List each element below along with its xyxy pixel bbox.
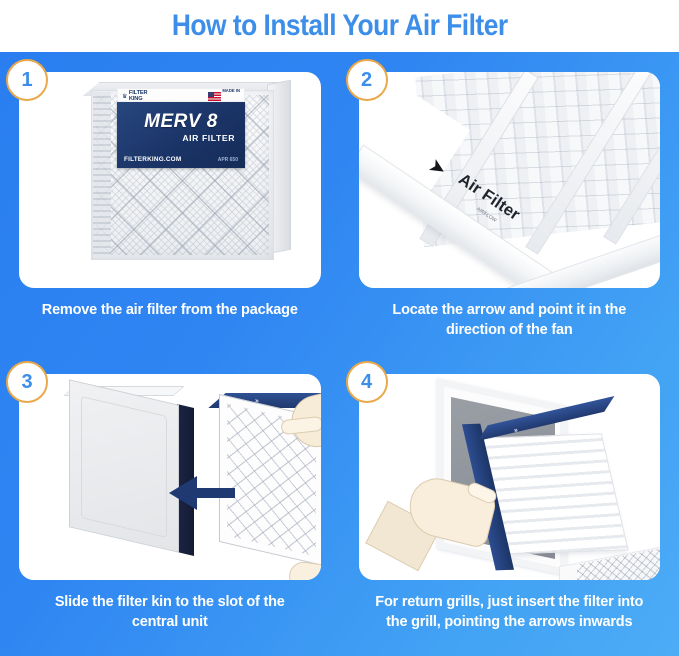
step-1-image-card: ♛ FILTER KING MADE IN USA — [19, 72, 321, 288]
page-title: How to Install Your Air Filter — [172, 9, 508, 43]
apr-rating-text: APR 650 — [218, 157, 238, 163]
step-caption-4: For return grills, just insert the filte… — [340, 580, 679, 632]
filter-pleat-ribs — [93, 92, 111, 258]
step-card-3: » 3 Slide the filter kin to the slot of … — [0, 354, 340, 656]
step-card-4: » 4 For return grills, just insert the f… — [340, 354, 679, 656]
website-text: FILTERKING.COM — [124, 156, 181, 163]
steps-board: ♛ FILTER KING MADE IN USA — [0, 52, 679, 656]
filter-frame-arrow-marks: » — [513, 426, 520, 434]
hand-bottom — [287, 560, 320, 580]
filter-corner-closeup-illustration: ➤ Air Filter AIRFLOW — [359, 72, 661, 288]
filter-frame-arrow-marks: » — [255, 397, 261, 405]
step-number-badge-2: 2 — [346, 59, 388, 101]
step-3-image-card: » — [19, 374, 321, 580]
filter-label-footer: FILTERKING.COM APR 650 — [117, 156, 245, 163]
crown-icon: ♛ — [122, 94, 127, 100]
step-2-image-card: ➤ Air Filter AIRFLOW — [359, 72, 661, 288]
filter-into-return-grille-illustration: » — [359, 374, 661, 580]
brand-line-2: KING — [129, 96, 143, 102]
step-caption-2: Locate the arrow and point it in the dir… — [340, 288, 679, 340]
made-in-label: MADE IN — [222, 88, 240, 93]
merv-rating-text: MERV 8 — [117, 111, 245, 133]
product-type-text: AIR FILTER — [182, 133, 235, 143]
us-flag-icon — [208, 92, 221, 101]
step-4-image-card: » — [359, 374, 661, 580]
step-4-card-wrap: » 4 — [340, 354, 679, 580]
step-caption-1: Remove the air filter from the package — [0, 288, 340, 321]
filter-into-central-unit-illustration: » — [19, 374, 321, 580]
brand-name: FILTER KING — [129, 91, 148, 103]
steps-grid: ♛ FILTER KING MADE IN USA — [0, 52, 679, 656]
step-3-card-wrap: » 3 — [0, 354, 340, 580]
step-caption-3: Slide the filter kin to the slot of the … — [0, 580, 340, 632]
step-number-badge-3: 3 — [6, 361, 48, 403]
header-bar: How to Install Your Air Filter — [0, 0, 679, 52]
step-1-card-wrap: ♛ FILTER KING MADE IN USA — [0, 52, 340, 288]
air-filter-product-illustration: ♛ FILTER KING MADE IN USA — [19, 72, 321, 288]
insert-direction-arrow-icon — [167, 472, 237, 518]
central-unit-inner-border — [81, 396, 167, 538]
filter-label-body: MERV 8 AIR FILTER FILTERKING.COM APR 650 — [117, 102, 245, 168]
step-number-badge-4: 4 — [346, 361, 388, 403]
filter-king-logo: ♛ FILTER KING — [122, 91, 147, 103]
step-card-1: ♛ FILTER KING MADE IN USA — [0, 52, 340, 354]
step-number-badge-1: 1 — [6, 59, 48, 101]
step-card-2: ➤ Air Filter AIRFLOW 2 Locate the arrow … — [340, 52, 679, 354]
step-2-card-wrap: ➤ Air Filter AIRFLOW 2 — [340, 52, 679, 288]
